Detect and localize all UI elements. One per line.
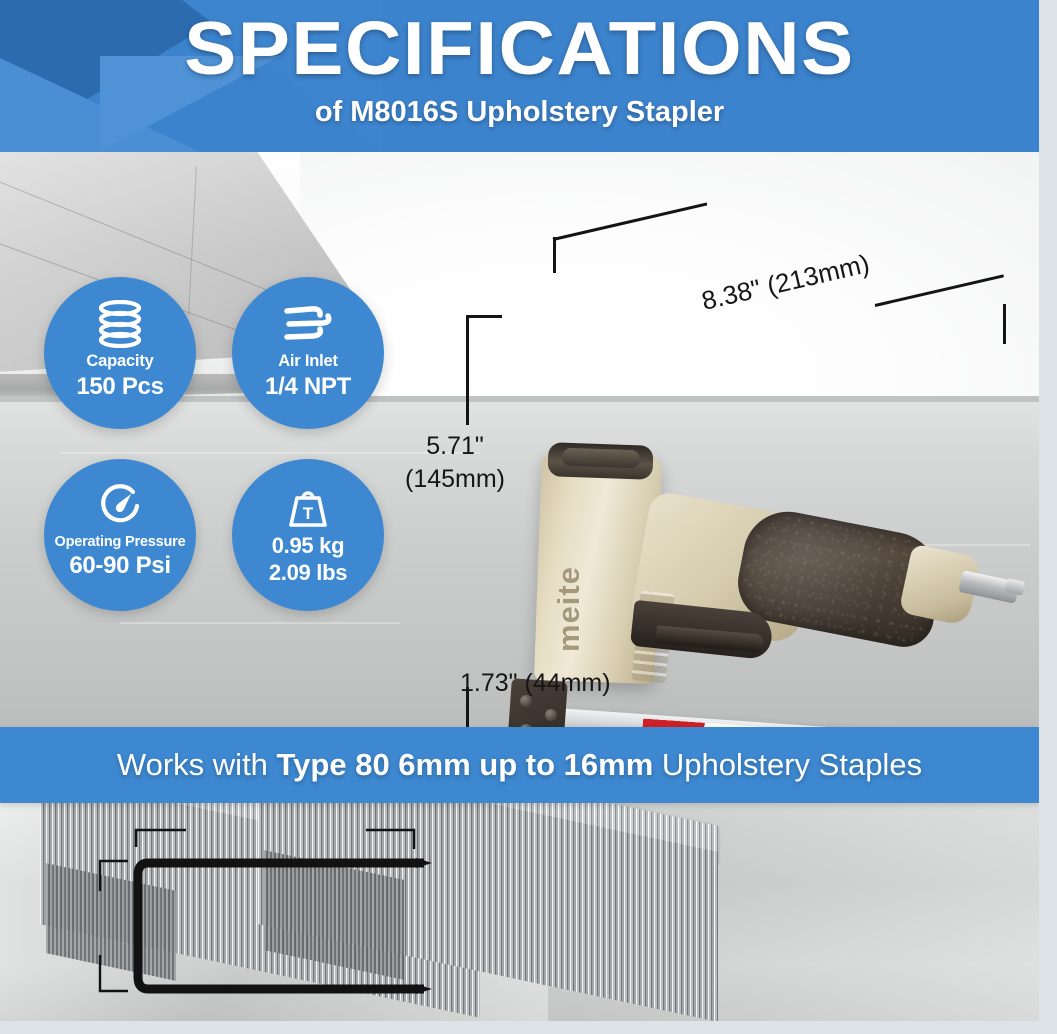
height-bracket-line-top — [466, 315, 469, 425]
page-title: SPECIFICATIONS — [0, 8, 1057, 89]
height-bracket-tick-top — [466, 315, 502, 318]
air-flow-icon — [232, 299, 384, 349]
page-subtitle: of M8016S Upholstery Stapler — [0, 96, 1039, 129]
dimension-depth-label: 1.73" (44mm) — [460, 669, 611, 698]
scene-background-sky — [300, 152, 1057, 402]
staple-section: 1/4"-5/8" (6-16 mm) 1/2" (12.8 mm) — [0, 803, 1057, 1034]
tool-brand-emboss: meite — [551, 542, 587, 652]
wall-vertical-seam — [188, 166, 197, 316]
page-bottom-border — [0, 1021, 1057, 1034]
product-scene: meite MT8016S 1/2" Crown Fine Wire Stapl… — [0, 152, 1057, 727]
svg-text:T: T — [303, 504, 314, 523]
staple-outline-diagram — [0, 803, 500, 1034]
feature-label: Operating Pressure — [44, 533, 196, 551]
feature-circle-weight[interactable]: T 0.95 kg 2.09 lbs — [232, 459, 384, 611]
feature-label: Capacity — [44, 351, 196, 372]
banner-text: Works with Type 80 6mm up to 16mm Uphols… — [117, 747, 922, 783]
pressure-gauge-icon — [44, 481, 196, 531]
banner-suffix: Upholstery Staples — [653, 747, 922, 782]
feature-text-capacity: Capacity 150 Pcs — [44, 351, 196, 401]
feature-circle-capacity[interactable]: Capacity 150 Pcs — [44, 277, 196, 429]
dimension-height-inches: 5.71" — [405, 430, 505, 463]
banner-highlight: Type 80 6mm up to 16mm — [277, 747, 654, 782]
dimension-height-label: 5.71" (145mm) — [405, 430, 505, 496]
feature-value: 60-90 Psi — [44, 551, 196, 580]
feature-label: Air Inlet — [232, 351, 384, 372]
banner-prefix: Works with — [117, 747, 277, 782]
feature-text-weight: 0.95 kg 2.09 lbs — [232, 533, 384, 587]
weight-icon: T — [232, 481, 384, 531]
compatibility-banner: Works with Type 80 6mm up to 16mm Uphols… — [0, 727, 1039, 803]
dimension-height-mm: (145mm) — [405, 463, 505, 496]
feature-value-lbs: 2.09 lbs — [232, 560, 384, 587]
length-bracket-tick-right — [1003, 304, 1006, 344]
feature-value: 1/4 NPT — [232, 372, 384, 401]
length-bracket-tick-left — [553, 237, 556, 273]
feature-value-kg: 0.95 kg — [232, 533, 384, 560]
header-banner: SPECIFICATIONS of M8016S Upholstery Stap… — [0, 0, 1057, 152]
feature-text-operating-pressure: Operating Pressure 60-90 Psi — [44, 533, 196, 580]
tool-cap-inner — [562, 448, 641, 469]
page-right-border — [1039, 0, 1057, 1034]
feature-text-air-inlet: Air Inlet 1/4 NPT — [232, 351, 384, 401]
feature-circle-operating-pressure[interactable]: Operating Pressure 60-90 Psi — [44, 459, 196, 611]
feature-circle-air-inlet[interactable]: Air Inlet 1/4 NPT — [232, 277, 384, 429]
tool-nose-bolt — [545, 709, 557, 721]
stack-capacity-icon — [44, 299, 196, 349]
feature-value: 150 Pcs — [44, 372, 196, 401]
wall-seam-line — [0, 180, 274, 293]
floor-streak — [120, 622, 400, 624]
specification-infographic: SPECIFICATIONS of M8016S Upholstery Stap… — [0, 0, 1057, 1034]
